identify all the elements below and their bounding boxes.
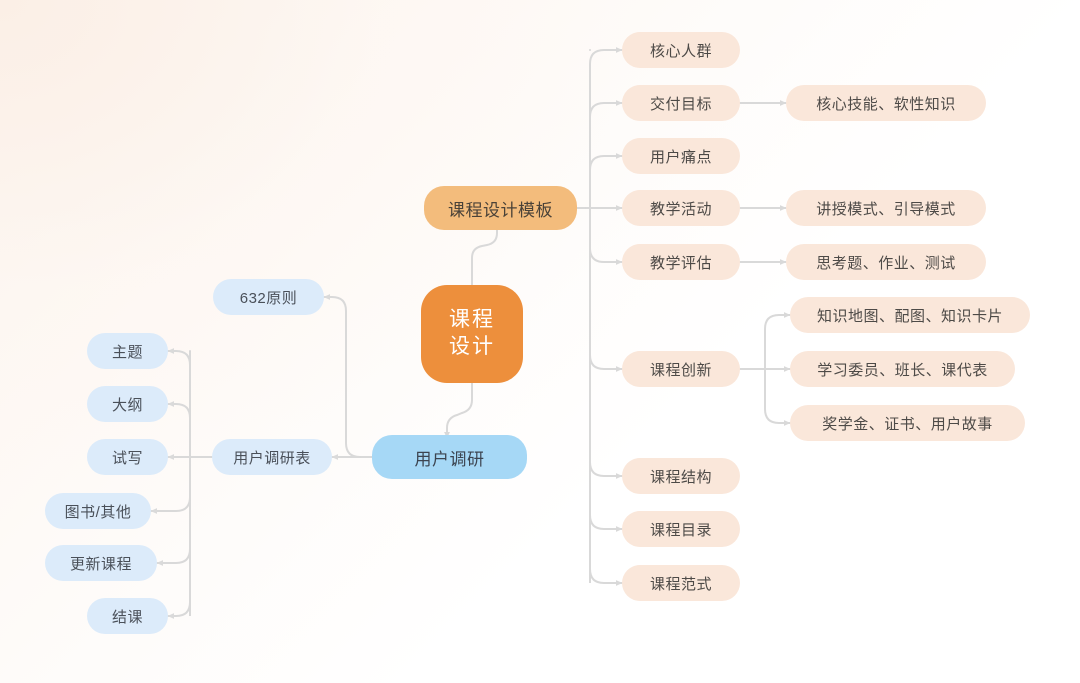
node-teaching-evaluation[interactable]: 教学评估: [622, 244, 740, 280]
branch-label: 课程设计模板: [448, 196, 553, 221]
node-label: 试写: [112, 447, 143, 468]
node-label: 图书/其他: [65, 501, 132, 522]
node-label: 课程结构: [650, 466, 712, 487]
node-label: 核心人群: [650, 40, 712, 61]
node-label: 课程目录: [650, 519, 712, 540]
node-teaching-activity[interactable]: 教学活动: [622, 190, 740, 226]
node-label: 课程范式: [650, 573, 712, 594]
root-label-line2: 设计: [449, 334, 495, 361]
node-label: 结课: [112, 606, 143, 627]
node-finish-class[interactable]: 结课: [87, 598, 168, 634]
node-course-structure[interactable]: 课程结构: [622, 458, 740, 494]
node-label: 思考题、作业、测试: [816, 252, 956, 273]
branch-node-user-research[interactable]: 用户调研: [372, 435, 527, 479]
node-books-others[interactable]: 图书/其他: [45, 493, 151, 529]
node-label: 用户痛点: [650, 146, 712, 167]
node-label: 学习委员、班长、课代表: [817, 359, 988, 380]
edge-survey-to-topic: [168, 351, 190, 365]
node-outline[interactable]: 大纲: [87, 386, 168, 422]
node-trial-writing[interactable]: 试写: [87, 439, 168, 475]
node-course-innovation[interactable]: 课程创新: [622, 351, 740, 387]
node-delivery-goal[interactable]: 交付目标: [622, 85, 740, 121]
edge-innovation-to-knowledge-map: [765, 315, 790, 329]
node-class-roles[interactable]: 学习委员、班长、课代表: [790, 351, 1015, 387]
node-questions-homework-tests[interactable]: 思考题、作业、测试: [786, 244, 986, 280]
node-632-principle[interactable]: 632原则: [213, 279, 324, 315]
node-label: 核心技能、软性知识: [816, 93, 956, 114]
root-node[interactable]: 课程 设计: [421, 285, 523, 383]
node-course-paradigm[interactable]: 课程范式: [622, 565, 740, 601]
edge-root-to-research: [447, 383, 472, 438]
node-knowledge-map-cards[interactable]: 知识地图、配图、知识卡片: [790, 297, 1030, 333]
node-update-course[interactable]: 更新课程: [45, 545, 157, 581]
node-label: 知识地图、配图、知识卡片: [817, 305, 1003, 326]
branch-label: 用户调研: [415, 445, 485, 470]
node-label: 主题: [112, 341, 143, 362]
node-scholarship-certificate-stories[interactable]: 奖学金、证书、用户故事: [790, 405, 1025, 441]
node-label: 632原则: [240, 287, 298, 308]
node-label: 大纲: [112, 394, 143, 415]
edge-survey-to-outline: [168, 404, 190, 418]
edge-survey-to-books: [151, 497, 190, 511]
root-label-line1: 课程: [449, 307, 495, 334]
edge-to-pain-point: [590, 156, 622, 170]
edge-innovation-to-awards: [765, 409, 790, 423]
edge-research-to-632: [324, 297, 360, 457]
node-label: 用户调研表: [233, 447, 311, 468]
node-label: 课程创新: [650, 359, 712, 380]
edge-to-course-innovation: [590, 355, 622, 369]
edge-to-delivery-goal: [590, 103, 622, 117]
edge-to-teaching-eval: [590, 248, 622, 262]
edge-to-course-catalog: [590, 515, 622, 529]
node-label: 教学活动: [650, 198, 712, 219]
node-user-pain-point[interactable]: 用户痛点: [622, 138, 740, 174]
edge-to-course-paradigm: [590, 569, 622, 583]
node-label: 交付目标: [650, 93, 712, 114]
edge-to-course-structure: [590, 462, 622, 476]
edge-survey-to-finish: [168, 602, 190, 616]
edge-root-to-template: [472, 222, 497, 285]
node-core-skills-soft-knowledge[interactable]: 核心技能、软性知识: [786, 85, 986, 121]
edge-survey-to-update: [157, 549, 190, 563]
node-lecture-guide-modes[interactable]: 讲授模式、引导模式: [786, 190, 986, 226]
node-user-survey-form[interactable]: 用户调研表: [212, 439, 332, 475]
branch-node-course-design-template[interactable]: 课程设计模板: [424, 186, 577, 230]
node-label: 教学评估: [650, 252, 712, 273]
node-topic[interactable]: 主题: [87, 333, 168, 369]
node-course-catalog[interactable]: 课程目录: [622, 511, 740, 547]
node-label: 更新课程: [70, 553, 132, 574]
node-label: 讲授模式、引导模式: [816, 198, 956, 219]
mindmap-canvas: 课程 设计 课程设计模板 用户调研 核心人群 交付目标 用户痛点 教学活动 教学…: [0, 0, 1080, 683]
node-core-audience[interactable]: 核心人群: [622, 32, 740, 68]
edge-to-core-audience: [590, 50, 622, 64]
node-label: 奖学金、证书、用户故事: [822, 413, 993, 434]
